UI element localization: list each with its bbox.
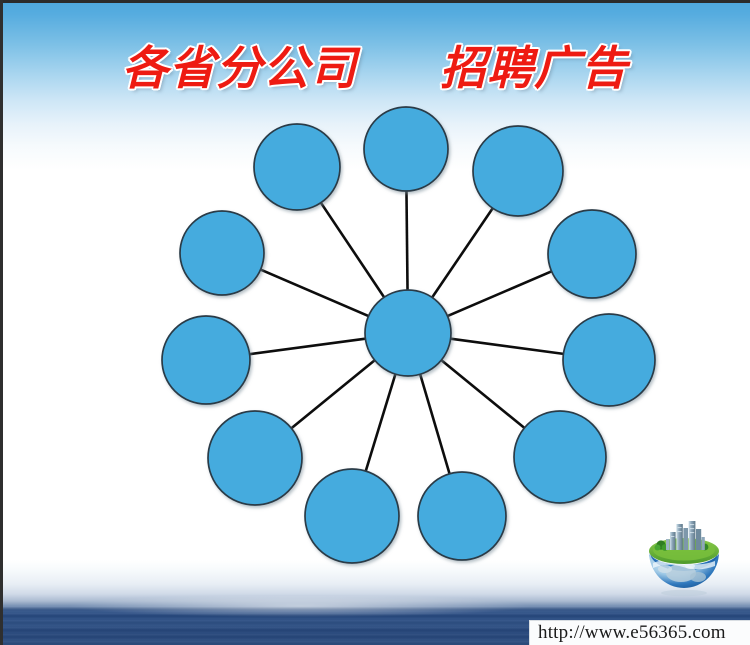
diagram-node-7[interactable] xyxy=(563,314,655,406)
spoke-line-7 xyxy=(450,339,565,354)
spoke-line-1 xyxy=(406,190,407,291)
logo-buildings xyxy=(666,521,705,550)
hub-and-spoke-diagram xyxy=(0,0,750,645)
diagram-node-3[interactable] xyxy=(473,126,563,216)
diagram-node-9[interactable] xyxy=(514,411,606,503)
diagram-node-10[interactable] xyxy=(305,469,399,563)
diagram-node-8[interactable] xyxy=(208,411,302,505)
diagram-node-2[interactable] xyxy=(254,124,340,210)
diagram-node-4[interactable] xyxy=(180,211,264,295)
spoke-line-3 xyxy=(432,207,494,298)
spoke-line-8 xyxy=(291,360,376,429)
globe-reflection xyxy=(661,590,707,596)
diagram-node-1[interactable] xyxy=(364,107,448,191)
spoke-line-10 xyxy=(365,373,395,472)
spoke-line-9 xyxy=(441,360,526,429)
diagram-node-5[interactable] xyxy=(548,210,636,298)
spoke-line-4 xyxy=(260,269,370,316)
watermark-url-text: http://www.e56365.com xyxy=(530,621,750,645)
diagram-node-11[interactable] xyxy=(418,472,506,560)
diagram-node-6[interactable] xyxy=(162,316,250,404)
spoke-line-5 xyxy=(447,271,553,316)
spoke-line-6 xyxy=(249,339,367,355)
spoke-line-2 xyxy=(320,202,384,298)
diagram-nodes xyxy=(162,107,655,563)
watermark-url-box: http://www.e56365.com xyxy=(529,620,750,645)
diagram-hub-node[interactable] xyxy=(365,290,451,376)
spoke-line-11 xyxy=(420,373,450,474)
slide-canvas: 各省分公司 招聘广告 xyxy=(0,0,750,645)
globe-city-logo xyxy=(641,519,727,599)
